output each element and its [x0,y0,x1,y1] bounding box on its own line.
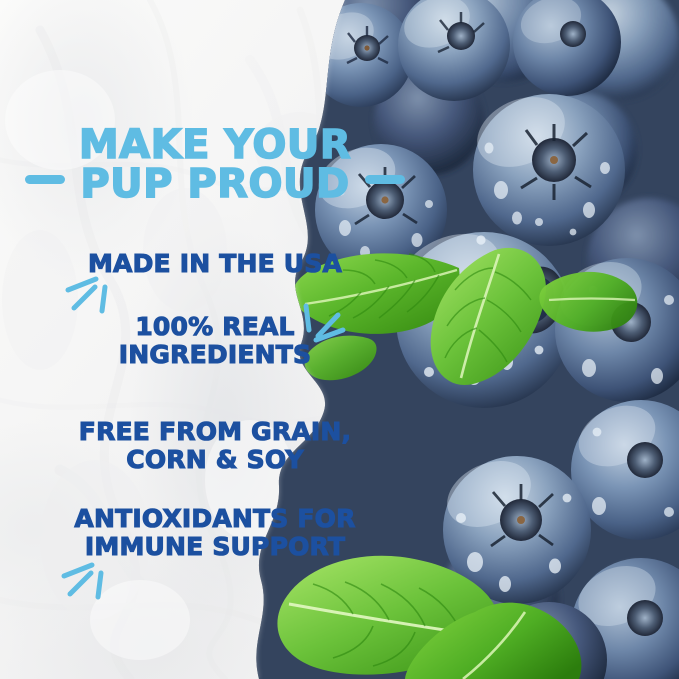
claim-line: CORN & SOY [0,446,430,474]
claim-free-from: FREE FROM GRAIN, CORN & SOY [0,418,430,473]
dash-right-icon [365,175,405,184]
headline-line-2: PUP PROUD [79,165,351,204]
dash-left-icon [25,175,65,184]
sparkle-burst-icon [62,274,114,320]
claim-line: FREE FROM GRAIN, [0,418,430,446]
berry [309,3,413,107]
claim-antioxidants: ANTIOXIDANTS FOR IMMUNE SUPPORT [0,505,430,560]
headline-row: MAKE YOUR PUP PROUD [0,126,430,204]
page-title: MAKE YOUR PUP PROUD [79,126,351,204]
sparkle-burst-icon [296,300,348,346]
claim-line: INGREDIENTS [0,341,430,369]
product-marketing-banner: MAKE YOUR PUP PROUD MADE IN THE USA 100%… [0,0,679,679]
claim-line: ANTIOXIDANTS FOR [0,505,430,533]
claim-line: IMMUNE SUPPORT [0,533,430,561]
sparkle-burst-icon [58,560,110,606]
claim-real-ingredients: 100% REAL INGREDIENTS [0,313,430,368]
